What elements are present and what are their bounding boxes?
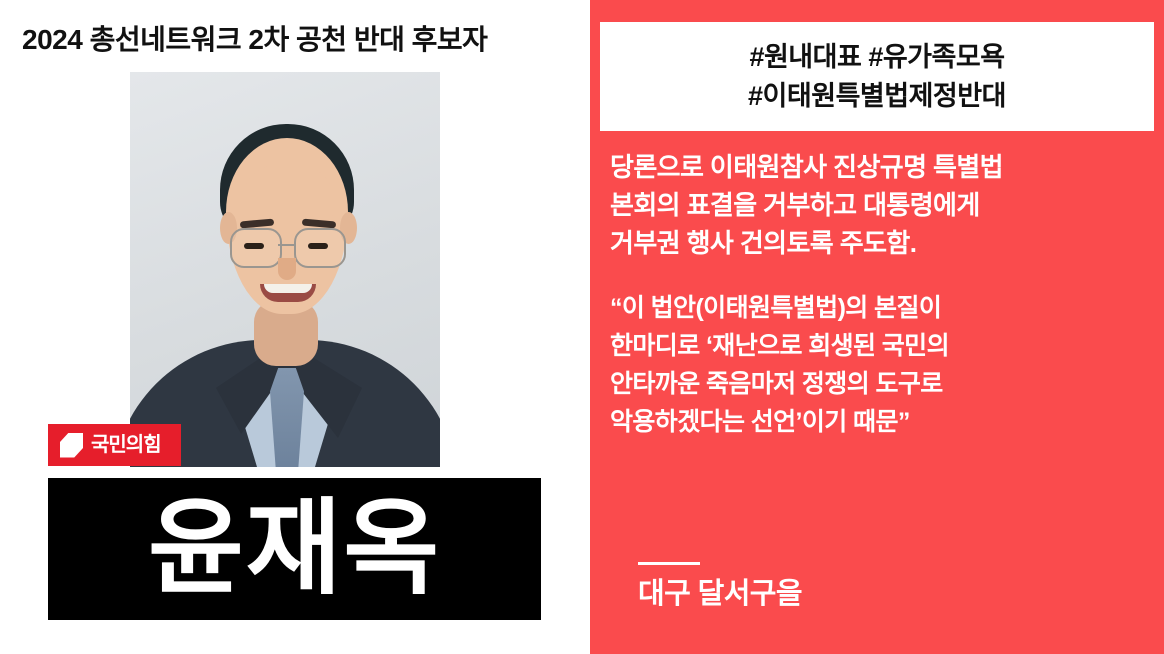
hashtag-box: #원내대표 #유가족모욕 #이태원특별법제정반대 [600, 22, 1154, 131]
party-leaf-icon [60, 433, 83, 458]
portrait-glasses-bridge [278, 244, 294, 246]
candidate-portrait [130, 72, 440, 467]
quote-line: “이 법안(이태원특별법)의 본질이 [610, 289, 1150, 327]
candidate-poster: 2024 총선네트워크 2차 공천 반대 후보자 [0, 0, 1164, 654]
portrait-necktie [270, 368, 304, 467]
portrait-eye-right [308, 243, 328, 249]
portrait-nose [278, 258, 296, 280]
hashtag-line-1: #원내대표 #유가족모욕 [749, 39, 1004, 75]
district-label: 대구 달서구을 [638, 577, 1118, 612]
hashtag-line-2: #이태원특별법제정반대 [748, 78, 1006, 114]
summary-block: 당론으로 이태원참사 진상규명 특별법 본회의 표결을 거부하고 대통령에게 거… [610, 149, 1150, 263]
candidate-name-bar: 윤재옥 [48, 478, 541, 620]
party-badge: 국민의힘 [48, 424, 181, 466]
quote-line: 안타까운 죽음마저 정쟁의 도구로 [610, 365, 1150, 403]
quote-block: “이 법안(이태원특별법)의 본질이 한마디로 ‘재난으로 희생된 국민의 안타… [610, 289, 1150, 441]
party-name-label: 국민의힘 [91, 435, 161, 455]
quote-line: 악용하겠다는 선언’이기 때문” [610, 403, 1150, 441]
district-divider [638, 562, 700, 565]
page-title: 2024 총선네트워크 2차 공천 반대 후보자 [22, 18, 578, 58]
right-panel: #원내대표 #유가족모욕 #이태원특별법제정반대 당론으로 이태원참사 진상규명… [590, 0, 1164, 654]
summary-line: 당론으로 이태원참사 진상규명 특별법 [610, 149, 1150, 187]
summary-line: 거부권 행사 건의토록 주도함. [610, 225, 1150, 263]
quote-line: 한마디로 ‘재난으로 희생된 국민의 [610, 327, 1150, 365]
left-column: 2024 총선네트워크 2차 공천 반대 후보자 [0, 0, 590, 654]
candidate-name-label: 윤재옥 [148, 497, 441, 601]
portrait-eye-left [244, 243, 264, 249]
summary-line: 본회의 표결을 거부하고 대통령에게 [610, 187, 1150, 225]
district-block: 대구 달서구을 [638, 562, 1118, 612]
portrait-teeth [264, 284, 312, 293]
